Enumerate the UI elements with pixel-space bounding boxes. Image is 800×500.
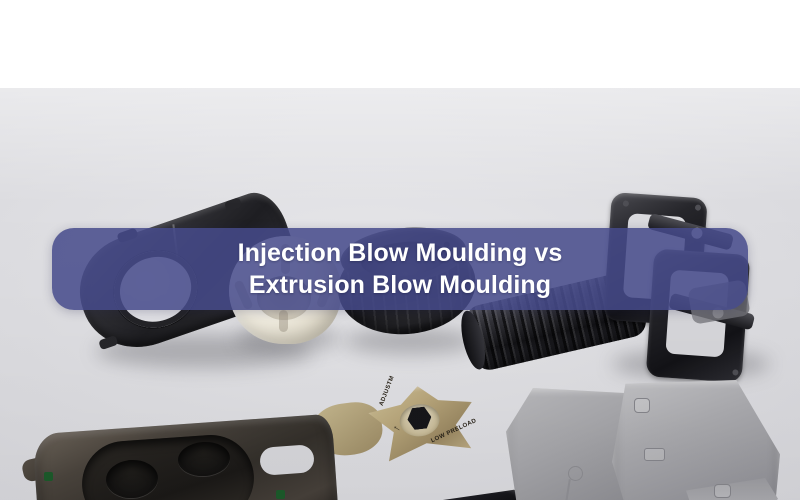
screenshot-root: ADJUSTM LOW PRELOAD ↑ <box>0 0 800 500</box>
console-rear-opening <box>259 444 315 476</box>
trim-panel-b-boss <box>644 448 665 461</box>
trim-panel-b-boss <box>634 398 650 413</box>
sill-body <box>355 486 526 500</box>
bushing-slot <box>279 310 288 332</box>
console-green-clip <box>276 490 285 499</box>
title-banner: Injection Blow Moulding vs Extrusion Blo… <box>52 228 748 310</box>
trim-panel-b-boss <box>714 484 731 498</box>
part-adjuster-knob: ADJUSTM LOW PRELOAD ↑ <box>351 372 492 473</box>
top-white-band <box>0 0 800 88</box>
part-center-console <box>14 424 340 500</box>
title-line-1: Injection Blow Moulding vs <box>238 237 563 269</box>
part-trim-panel-b <box>612 380 780 500</box>
part-sill-scuff-plate <box>355 486 526 500</box>
console-green-clip <box>44 472 53 481</box>
bezel-mount-tab <box>98 335 118 350</box>
adjuster-label-top: ADJUSTM <box>379 375 396 407</box>
title-line-2: Extrusion Blow Moulding <box>249 269 551 301</box>
